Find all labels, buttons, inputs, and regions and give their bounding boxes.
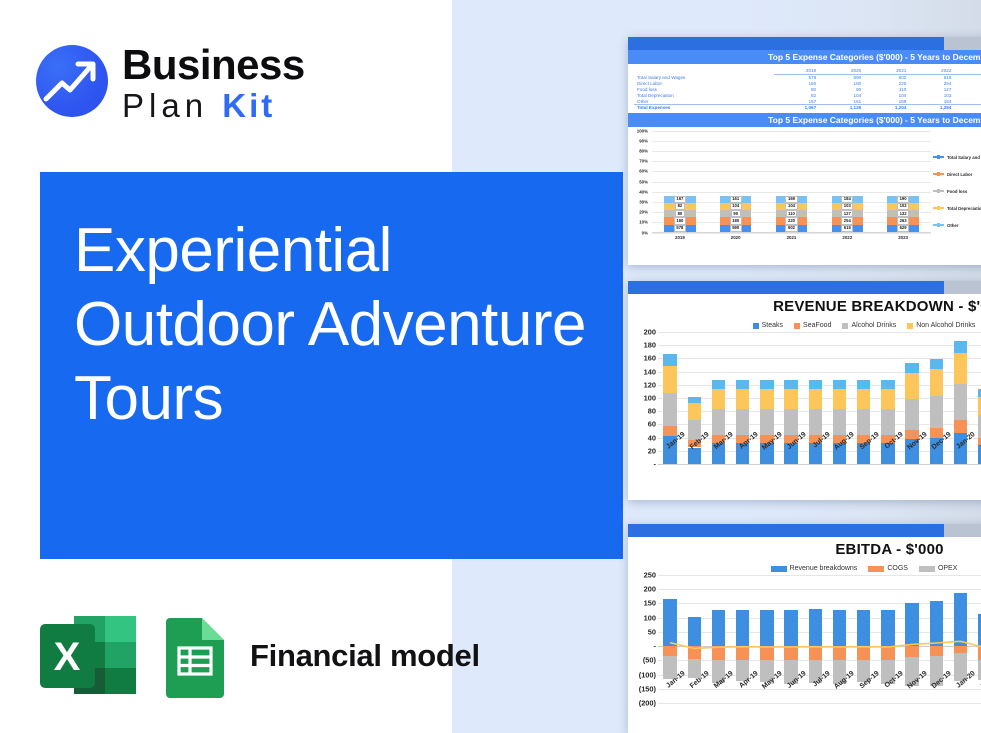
- bar-segment: 102: [887, 203, 918, 210]
- data-label: 80: [675, 210, 685, 217]
- bar-segment: [930, 369, 944, 396]
- data-label: 110: [786, 210, 798, 217]
- legend-label: OPEX: [938, 565, 957, 572]
- bar-segment: 590: [720, 225, 751, 232]
- format-badges-row: X Financial model: [38, 612, 480, 700]
- legend-swatch: [919, 566, 935, 572]
- brand-line-plankit: Plan Kit: [122, 87, 305, 125]
- brand-line-business: Business: [122, 43, 305, 87]
- table-col-header: [634, 67, 774, 75]
- excel-window-titlebar: [628, 524, 981, 537]
- bar-segment: [688, 403, 702, 420]
- y-tick: 80%: [639, 149, 648, 154]
- data-label: 578: [674, 225, 686, 232]
- y-tick: 80: [648, 407, 656, 416]
- expense-chart-x-axis: 20192020202120222023: [652, 233, 931, 240]
- bar-segment: 602: [776, 225, 807, 232]
- bar-segment: [784, 380, 798, 389]
- data-label: 102: [897, 203, 909, 210]
- data-label: 590: [730, 225, 742, 232]
- page-title: Experiential Outdoor Adventure Tours: [74, 214, 594, 436]
- y-tick: (50): [643, 656, 656, 665]
- ebitda-chart-plot: (200)(150)(100)(50)-50100150200250: [628, 575, 981, 703]
- excel-window-titlebar: [628, 281, 981, 294]
- bar-segment: [809, 380, 823, 389]
- bar-segment: [760, 389, 774, 409]
- y-tick: 250: [644, 571, 656, 580]
- bar-segment: [809, 389, 823, 409]
- table-col-header: 2019: [774, 67, 819, 75]
- bar-segment: [784, 389, 798, 409]
- ebitda-chart-x-axis: Jan-19Feb-19Mar-19Apr-19May-19Jun-19Jul-…: [658, 670, 981, 677]
- legend-swatch: [933, 207, 944, 208]
- stacked-bar: 1678280160578: [664, 196, 695, 232]
- legend-swatch: [771, 566, 787, 572]
- legend-swatch: [907, 323, 913, 329]
- legend-item: Non Alcohol Drinks: [907, 322, 975, 329]
- ebitda-chart-legend: Revenue breakdownsCOGSOPEX: [628, 565, 981, 572]
- revenue-chart-x-axis: Jan-19Feb-19Mar-19Apr-19May-19Jun-19Jul-…: [658, 431, 981, 438]
- bar-segment: [688, 397, 702, 403]
- bar-segment: 104: [720, 203, 751, 210]
- revenue-chart-legend: SteaksSeaFoodAlcohol DrinksNon Alcohol D…: [628, 322, 981, 329]
- y-tick: 180: [644, 341, 656, 350]
- stacked-bar: 190102132263629: [887, 196, 918, 232]
- revenue-chart-title: REVENUE BREAKDOWN - $'000: [628, 298, 981, 315]
- legend-swatch: [933, 224, 944, 225]
- y-tick: 100%: [637, 128, 648, 133]
- bar-segment: [663, 354, 677, 365]
- revenue-chart-plot: -20406080100120140160180200: [628, 332, 981, 464]
- legend-label: Total Depreciation: [947, 206, 981, 211]
- y-tick: 20%: [639, 210, 648, 215]
- y-tick: 50%: [639, 179, 648, 184]
- y-tick: 140: [644, 367, 656, 376]
- bar-slot: 1678280160578: [652, 196, 708, 232]
- y-tick: 200: [644, 328, 656, 337]
- data-label: 104: [730, 203, 742, 210]
- bar-segment: [881, 389, 895, 409]
- legend-item: OPEX: [919, 565, 957, 572]
- bar-segment: 578: [664, 225, 695, 232]
- x-tick: 2021: [764, 233, 820, 240]
- zero-line: [658, 464, 981, 465]
- bar-segment: [857, 389, 871, 409]
- bar-segment: 160: [664, 217, 695, 224]
- y-tick: (100): [639, 670, 656, 679]
- stacked-bar: 16110490180590: [720, 196, 751, 232]
- legend-label: Alcohol Drinks: [851, 322, 896, 329]
- data-label: 103: [841, 203, 853, 210]
- legend-swatch: [753, 323, 759, 329]
- stacked-bar: 184103127254615: [832, 196, 863, 232]
- bar-segment: [712, 389, 726, 409]
- bar-segment: 104: [776, 203, 807, 210]
- screenshot-panel-expense-categories[interactable]: Top 5 Expense Categories ($'000) - 5 Yea…: [628, 37, 981, 265]
- data-label: 90: [731, 210, 741, 217]
- table-col-header: 2022: [909, 67, 954, 75]
- bar-segment: [905, 399, 919, 430]
- bar-segment: 132: [887, 210, 918, 217]
- bar-segment: 161: [720, 196, 751, 203]
- bar-segment: [663, 393, 677, 427]
- bar-segment: 254: [832, 217, 863, 224]
- bar-segment: 190: [887, 196, 918, 203]
- bar-segment: 169: [776, 196, 807, 203]
- y-tick: 70%: [639, 159, 648, 164]
- data-label: 127: [841, 210, 853, 217]
- x-tick: 2020: [708, 233, 764, 240]
- y-tick: 120: [644, 380, 656, 389]
- bar-segment: 103: [832, 203, 863, 210]
- legend-item: Other: [933, 217, 981, 234]
- legend-label: Revenue breakdowns: [790, 565, 858, 572]
- microsoft-excel-icon[interactable]: X: [38, 614, 138, 698]
- legend-item: Total Depreciation: [933, 200, 981, 217]
- legend-label: Other: [947, 223, 958, 228]
- row-value: 1,284: [909, 104, 954, 110]
- bar-segment: [736, 389, 750, 409]
- y-tick: 200: [644, 585, 656, 594]
- row-value: 1,125: [819, 104, 864, 110]
- table-row: Total Expenses1,0671,1251,2041,2841,316: [634, 104, 981, 110]
- legend-item: Steaks: [753, 322, 783, 329]
- brand-word-plan: Plan: [122, 87, 208, 124]
- bar-segment: 220: [776, 217, 807, 224]
- y-tick: 60%: [639, 169, 648, 174]
- y-tick: 100: [644, 394, 656, 403]
- bar-segment: [930, 359, 944, 369]
- bar-segment: 263: [887, 217, 918, 224]
- financial-model-label: Financial model: [250, 638, 480, 674]
- y-tick: 150: [644, 599, 656, 608]
- bar-segment: [663, 366, 677, 393]
- row-label: Total Expenses: [634, 104, 774, 110]
- legend-item: Direct Labor: [933, 166, 981, 183]
- legend-label: Steaks: [762, 322, 783, 329]
- x-tick: 2023: [875, 233, 931, 240]
- bar-segment: [954, 341, 968, 353]
- y-tick: 0%: [642, 230, 648, 235]
- excel-window-titlebar: [628, 37, 981, 50]
- bar-slot: 169104110220602: [764, 196, 820, 232]
- y-tick: 30%: [639, 200, 648, 205]
- y-tick: 100: [644, 613, 656, 622]
- legend-item: Total Salary and Wages: [933, 149, 981, 166]
- legend-swatch: [794, 323, 800, 329]
- bar-slot: 184103127254615: [819, 196, 875, 232]
- y-tick: -: [654, 460, 656, 469]
- legend-label: Non Alcohol Drinks: [916, 322, 975, 329]
- bar-segment: [954, 384, 968, 420]
- x-tick: 2019: [652, 233, 708, 240]
- y-tick: 60: [648, 420, 656, 429]
- brand-word-kit: Kit: [222, 87, 275, 124]
- bar-segment: [930, 396, 944, 428]
- legend-swatch: [933, 190, 944, 191]
- y-tick: 40: [648, 433, 656, 442]
- row-value: 1,067: [774, 104, 819, 110]
- bar-segment: [833, 389, 847, 409]
- legend-label: Direct Labor: [947, 172, 972, 177]
- legend-label: SeaFood: [803, 322, 831, 329]
- y-tick: 160: [644, 354, 656, 363]
- bar-segment: [760, 380, 774, 389]
- bar-segment: 90: [720, 210, 751, 217]
- bar-segment: [712, 380, 726, 389]
- data-label: 184: [841, 196, 853, 203]
- data-label: 190: [897, 196, 909, 203]
- table-col-header: 2021: [864, 67, 909, 75]
- table-col-header: 2023: [954, 67, 981, 75]
- stacked-bar: 169104110220602: [776, 196, 807, 232]
- data-label: 220: [785, 217, 797, 224]
- expense-table: 20192020202120222023Total Salary and Wag…: [628, 64, 981, 113]
- data-label: 132: [897, 210, 909, 217]
- bar-segment: [736, 380, 750, 389]
- data-label: 104: [785, 203, 797, 210]
- bar-segment: [881, 380, 895, 389]
- data-label: 180: [730, 217, 742, 224]
- bar-segment: 615: [832, 225, 863, 232]
- bar-segment: 184: [832, 196, 863, 203]
- screenshot-panel-ebitda[interactable]: EBITDA - $'000 Revenue breakdownsCOGSOPE…: [628, 524, 981, 733]
- expense-percent-stacked-chart: 0%10%20%30%40%50%60%70%80%90%100% 167828…: [628, 127, 981, 253]
- data-label: 629: [897, 225, 909, 232]
- legend-item: Food loss: [933, 183, 981, 200]
- bar-segment: 180: [720, 217, 751, 224]
- data-label: 167: [674, 196, 686, 203]
- screenshot-panel-revenue-breakdown[interactable]: REVENUE BREAKDOWN - $'000 SteaksSeaFoodA…: [628, 281, 981, 500]
- data-label: 169: [785, 196, 797, 203]
- expense-chart-legend: Total Salary and WagesDirect LaborFood l…: [933, 149, 981, 234]
- bar-segment: 82: [664, 203, 695, 210]
- data-label: 82: [675, 203, 685, 210]
- legend-swatch: [868, 566, 884, 572]
- y-tick: 50: [648, 627, 656, 636]
- y-tick: 20: [648, 446, 656, 455]
- legend-label: Food loss: [947, 189, 967, 194]
- bar-segment: [905, 363, 919, 373]
- bar-slot: 190102132263629: [875, 196, 931, 232]
- table-header-row: 20192020202120222023: [634, 67, 981, 75]
- bar-segment: 80: [664, 210, 695, 217]
- expense-table-title: Top 5 Expense Categories ($'000) - 5 Yea…: [628, 50, 981, 64]
- slide-canvas: Business Plan Kit Experiential Outdoor A…: [0, 0, 981, 733]
- legend-swatch: [842, 323, 848, 329]
- legend-label: Total Salary and Wages: [947, 155, 981, 160]
- ebitda-chart-title: EBITDA - $'000: [628, 541, 981, 558]
- bar-slot: 16110490180590: [708, 196, 764, 232]
- expense-chart-plot: 1678280160578161104901805901691041102206…: [652, 131, 931, 233]
- bar-segment: [857, 380, 871, 389]
- data-label: 615: [841, 225, 853, 232]
- y-tick: 40%: [639, 189, 648, 194]
- bar-segment: 110: [776, 210, 807, 217]
- google-sheets-icon[interactable]: [160, 614, 230, 698]
- bar-segment: 127: [832, 210, 863, 217]
- bar-segment: [905, 373, 919, 399]
- data-label: 602: [785, 225, 797, 232]
- y-tick: (150): [639, 684, 656, 693]
- x-tick: 2022: [819, 233, 875, 240]
- row-value: 1,316: [954, 104, 981, 110]
- table-col-header: 2020: [819, 67, 864, 75]
- y-tick: 10%: [639, 220, 648, 225]
- row-value: 1,204: [864, 104, 909, 110]
- y-tick: (200): [639, 699, 656, 708]
- y-tick: -: [654, 642, 656, 651]
- y-tick: 90%: [639, 138, 648, 143]
- bar-segment: [833, 380, 847, 389]
- expense-chart-title: Top 5 Expense Categories ($'000) - 5 Yea…: [628, 113, 981, 127]
- data-label: 254: [841, 217, 853, 224]
- legend-item: Revenue breakdowns: [771, 565, 858, 572]
- legend-item: COGS: [868, 565, 908, 572]
- legend-item: SeaFood: [794, 322, 831, 329]
- bar-segment: 629: [887, 225, 918, 232]
- legend-label: COGS: [887, 565, 908, 572]
- bar-segment: [954, 353, 968, 384]
- brand-wordmark: Business Plan Kit: [122, 43, 305, 125]
- legend-swatch: [933, 173, 944, 174]
- bar-segment: 167: [664, 196, 695, 203]
- legend-swatch: [933, 156, 944, 157]
- data-label: 160: [674, 217, 686, 224]
- legend-item: Alcohol Drinks: [842, 322, 896, 329]
- data-label: 161: [730, 196, 742, 203]
- svg-text:X: X: [54, 635, 81, 679]
- brand-logo[interactable]: Business Plan Kit: [36, 33, 336, 125]
- data-label: 263: [897, 217, 909, 224]
- expense-chart-y-axis: 0%10%20%30%40%50%60%70%80%90%100%: [628, 131, 650, 233]
- growth-arrow-icon: [36, 45, 108, 117]
